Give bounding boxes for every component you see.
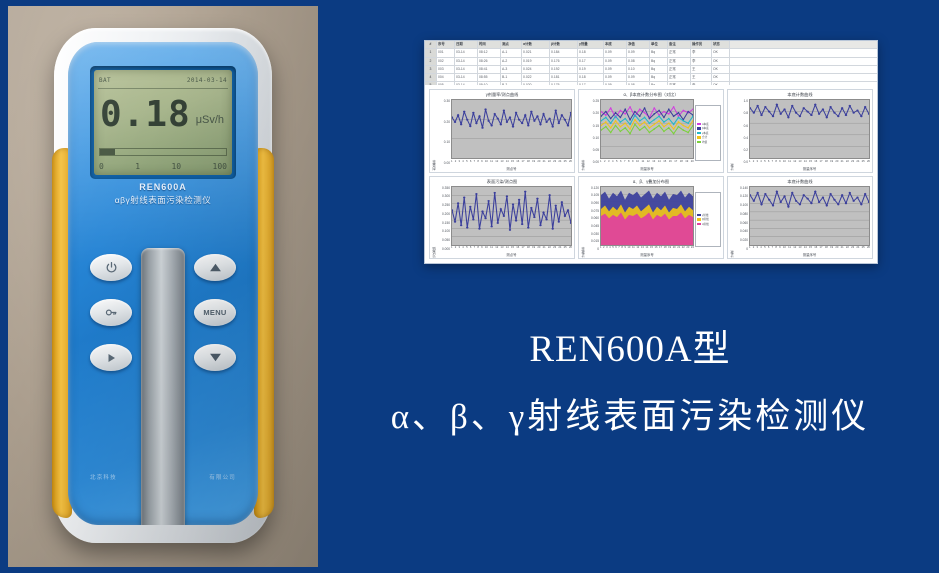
chart-title: α、β本底计数分布图（对比） bbox=[579, 90, 723, 99]
spreadsheet-header-row: #序号日期时间测点α计数β计数γ剂量本底净值单位备注操作员状态 bbox=[425, 41, 877, 49]
table-cell: 0.024 bbox=[522, 66, 550, 73]
table-cell: 0.17 bbox=[578, 58, 604, 65]
y-tick-label: 0.0 bbox=[744, 160, 748, 164]
table-cell: 4 bbox=[425, 74, 437, 81]
y-tick-label: 0.140 bbox=[740, 186, 748, 190]
chart-y-axis-label: 计数率 bbox=[580, 99, 586, 171]
device-model-plate: REN600A αβγ射线表面污染检测仪 bbox=[68, 182, 258, 206]
chart-card: α、β本底计数分布图（对比）计数率0.250.200.150.100.050.0… bbox=[578, 89, 724, 173]
y-tick-label: 0.05 bbox=[593, 148, 599, 152]
y-tick-label: 0.050 bbox=[442, 238, 450, 242]
table-cell: 08:12 bbox=[478, 49, 501, 56]
legend-label: β本底 bbox=[702, 126, 709, 130]
device-faceplate: BAT 2014-03-14 0.18 μSv/h 0110100 bbox=[68, 42, 258, 525]
table-cell: 08:41 bbox=[478, 66, 501, 73]
headline-description: α、β、γ射线表面污染检测仪 bbox=[330, 388, 930, 439]
lcd-value: 0.18 bbox=[100, 97, 191, 133]
y-tick-label: 0.040 bbox=[740, 229, 748, 233]
table-cell: B-1 bbox=[501, 74, 522, 81]
chart-y-ticks: 0.1400.1200.1000.0800.0600.0400.0200 bbox=[735, 186, 749, 258]
y-tick-label: 0.080 bbox=[740, 212, 748, 216]
legend-label: α射线 bbox=[702, 222, 709, 226]
lcd-battery-indicator: BAT bbox=[99, 77, 111, 84]
y-tick-label: 0.10 bbox=[444, 140, 450, 144]
lcd-scale-tick: 100 bbox=[213, 162, 227, 171]
chart-plot-area bbox=[749, 99, 870, 159]
column-header: 操作员 bbox=[691, 41, 712, 48]
table-cell: 0.09 bbox=[604, 49, 627, 56]
chart-plot-wrapper: 1234567891011121314151617181920212223242… bbox=[749, 99, 870, 171]
table-cell: OK bbox=[712, 58, 730, 65]
y-tick-label: 0.6 bbox=[744, 124, 748, 128]
legend-swatch bbox=[697, 141, 701, 144]
table-cell: 09:10 bbox=[478, 82, 501, 85]
legend-item: α射线 bbox=[697, 222, 719, 226]
table-cell: 0.021 bbox=[522, 49, 550, 56]
legend-swatch bbox=[697, 218, 701, 221]
chart-card: γ剂量率/测点曲线剂量率0.300.200.100.00123456789101… bbox=[429, 89, 575, 173]
chart-plot-wrapper: 1234567891011121314151617181920测量序号 bbox=[600, 99, 694, 171]
chart-y-ticks: 0.3500.3000.2500.2000.1500.1000.0500.000 bbox=[437, 186, 451, 258]
lcd-scale: 0110100 bbox=[99, 159, 227, 173]
legend-item: β射线 bbox=[697, 217, 719, 221]
legend-label: 均值 bbox=[702, 140, 707, 144]
y-tick-label: 0.030 bbox=[591, 232, 599, 236]
chart-body: 污染值0.3500.3000.2500.2000.1500.1000.0500.… bbox=[430, 186, 574, 259]
chart-legend: γ射线β射线α射线 bbox=[695, 192, 721, 248]
table-cell: 0.019 bbox=[522, 58, 550, 65]
y-tick-label: 0.075 bbox=[591, 209, 599, 213]
device-chinese-text: αβγ射线表面污染检测仪 bbox=[68, 194, 258, 206]
table-cell: 08:26 bbox=[478, 58, 501, 65]
chart-card: α、β、γ叠加分布图计数率0.1200.1050.0900.0750.0600.… bbox=[578, 176, 724, 260]
chart-plot-wrapper: 123456789101112131415161718192021222324测… bbox=[600, 186, 694, 258]
table-cell: 0.18 bbox=[578, 74, 604, 81]
table-cell: 001 bbox=[437, 49, 455, 56]
lcd-scale-tick: 0 bbox=[99, 162, 104, 171]
table-cell: OK bbox=[712, 82, 730, 85]
table-cell: 0.181 bbox=[550, 74, 578, 81]
chart-x-axis-label: 测量序号 bbox=[600, 166, 694, 171]
menu-label: MENU bbox=[203, 308, 226, 317]
legend-item: α本底 bbox=[697, 122, 719, 126]
play-button[interactable] bbox=[90, 344, 132, 371]
chart-title: 本底计数曲线 bbox=[728, 90, 872, 99]
chart-x-axis-label: 测点号 bbox=[451, 166, 572, 171]
y-tick-label: 1.0 bbox=[744, 99, 748, 103]
legend-swatch bbox=[697, 223, 701, 226]
lcd-date: 2014-03-14 bbox=[187, 77, 227, 84]
table-cell: 0.022 bbox=[522, 74, 550, 81]
y-tick-label: 0.000 bbox=[442, 247, 450, 251]
y-tick-label: 0.015 bbox=[591, 239, 599, 243]
key-button[interactable] bbox=[90, 299, 132, 326]
table-cell: 0.184 bbox=[550, 49, 578, 56]
device-model-text: REN600A bbox=[68, 182, 258, 192]
triangle-up-icon bbox=[209, 262, 222, 273]
chart-grid: γ剂量率/测点曲线剂量率0.300.200.100.00123456789101… bbox=[429, 89, 873, 259]
chart-y-axis-label: 计数 bbox=[729, 186, 735, 258]
table-cell: 03-14 bbox=[455, 66, 478, 73]
y-tick-label: 0.8 bbox=[744, 111, 748, 115]
table-cell: A-1 bbox=[501, 49, 522, 56]
power-button[interactable] bbox=[90, 254, 132, 281]
y-tick-label: 0.060 bbox=[591, 216, 599, 220]
legend-label: 合计 bbox=[702, 135, 707, 139]
chart-plot-area bbox=[749, 186, 870, 246]
up-button[interactable] bbox=[194, 254, 236, 281]
y-tick-label: 0.15 bbox=[593, 124, 599, 128]
legend-item: γ射线 bbox=[697, 213, 719, 217]
table-cell: A-2 bbox=[501, 58, 522, 65]
slide-canvas: BAT 2014-03-14 0.18 μSv/h 0110100 bbox=[0, 0, 939, 573]
table-cell: 李 bbox=[691, 58, 712, 65]
chart-title: 表面污染/测点图 bbox=[430, 177, 574, 186]
y-tick-label: 0.300 bbox=[442, 194, 450, 198]
table-cell: Bq bbox=[650, 74, 668, 81]
table-cell: 002 bbox=[437, 58, 455, 65]
chart-x-axis-label: 测点号 bbox=[451, 252, 572, 257]
table-cell: Bq bbox=[650, 82, 668, 85]
chart-y-ticks: 0.1200.1050.0900.0750.0600.0450.0300.015… bbox=[586, 186, 600, 258]
column-header: 备注 bbox=[668, 41, 691, 48]
table-cell: 0.10 bbox=[627, 66, 650, 73]
lcd-status-bar: BAT 2014-03-14 bbox=[99, 73, 227, 87]
menu-button[interactable]: MENU bbox=[194, 299, 236, 326]
table-cell: 2 bbox=[425, 58, 437, 65]
lcd-bargraph bbox=[99, 148, 227, 156]
y-tick-label: 0.20 bbox=[593, 111, 599, 115]
legend-item: 合计 bbox=[697, 135, 719, 139]
chart-body: 计数率0.1200.1050.0900.0750.0600.0450.0300.… bbox=[579, 186, 723, 259]
legend-label: β射线 bbox=[702, 217, 709, 221]
lcd-screen: BAT 2014-03-14 0.18 μSv/h 0110100 bbox=[94, 70, 232, 175]
legend-swatch bbox=[697, 136, 701, 139]
chart-legend: α本底β本底γ本底合计均值 bbox=[695, 105, 721, 161]
table-cell: 0.176 bbox=[550, 58, 578, 65]
y-tick-label: 0.045 bbox=[591, 224, 599, 228]
table-cell: OK bbox=[712, 74, 730, 81]
chart-y-ticks: 0.250.200.150.100.050.00 bbox=[586, 99, 600, 171]
chart-plot-wrapper: 1234567891011121314151617181920212223242… bbox=[451, 186, 572, 258]
power-icon bbox=[105, 261, 118, 274]
spreadsheet-table: #序号日期时间测点α计数β计数γ剂量本底净值单位备注操作员状态100103-14… bbox=[425, 41, 877, 85]
headline-model: REN600A型 bbox=[330, 318, 930, 372]
table-cell: 0.19 bbox=[578, 66, 604, 73]
lcd-divider bbox=[98, 88, 228, 89]
table-cell: 004 bbox=[437, 74, 455, 81]
table-cell: 03-14 bbox=[455, 74, 478, 81]
legend-label: γ本底 bbox=[702, 131, 708, 135]
lcd-reading: 0.18 μSv/h bbox=[100, 92, 226, 138]
y-tick-label: 0.150 bbox=[442, 221, 450, 225]
lcd-bezel: BAT 2014-03-14 0.18 μSv/h 0110100 bbox=[90, 66, 236, 179]
y-tick-label: 0.4 bbox=[744, 136, 748, 140]
lcd-scale-tick: 1 bbox=[135, 162, 140, 171]
table-row: 500503-1409:10B-20.0200.1750.170.090.08B… bbox=[425, 82, 877, 85]
device-handle-strip bbox=[141, 248, 185, 525]
column-header: α计数 bbox=[522, 41, 550, 48]
column-header: 测点 bbox=[501, 41, 522, 48]
chart-x-axis-label: 测量序号 bbox=[749, 166, 870, 171]
legend-swatch bbox=[697, 214, 701, 217]
table-cell: 0.020 bbox=[522, 82, 550, 85]
down-button[interactable] bbox=[194, 344, 236, 371]
legend-swatch bbox=[697, 127, 701, 130]
table-cell: 08:55 bbox=[478, 74, 501, 81]
table-cell: 0.192 bbox=[550, 66, 578, 73]
column-header: γ剂量 bbox=[578, 41, 604, 48]
y-tick-label: 0.090 bbox=[591, 201, 599, 205]
y-tick-label: 0.20 bbox=[444, 120, 450, 124]
legend-item: 均值 bbox=[697, 140, 719, 144]
y-tick-label: 0.2 bbox=[744, 148, 748, 152]
y-tick-label: 0.120 bbox=[591, 186, 599, 190]
chart-y-ticks: 0.300.200.100.00 bbox=[437, 99, 451, 171]
table-row: 100103-1408:12A-10.0210.1840.180.090.09B… bbox=[425, 49, 877, 57]
table-cell: 0.17 bbox=[578, 82, 604, 85]
chart-plot-area bbox=[600, 186, 694, 246]
table-cell: 王 bbox=[691, 66, 712, 73]
lcd-scale-tick: 10 bbox=[171, 162, 181, 171]
chart-y-ticks: 1.00.80.60.40.20.0 bbox=[735, 99, 749, 171]
chart-y-axis-label: 剂量率 bbox=[431, 99, 437, 171]
y-tick-label: 0.100 bbox=[442, 229, 450, 233]
table-cell: 5 bbox=[425, 82, 437, 85]
legend-label: γ射线 bbox=[702, 213, 708, 217]
column-header: 序号 bbox=[437, 41, 455, 48]
chart-y-axis-label: 污染值 bbox=[431, 186, 437, 258]
column-header: 净值 bbox=[627, 41, 650, 48]
chart-plot-area bbox=[600, 99, 694, 159]
y-tick-label: 0 bbox=[746, 247, 748, 251]
chart-card: 表面污染/测点图污染值0.3500.3000.2500.2000.1500.10… bbox=[429, 176, 575, 260]
chart-title: γ剂量率/测点曲线 bbox=[430, 90, 574, 99]
table-cell: 正常 bbox=[668, 82, 691, 85]
faceplate-footer-left: 北京科技 bbox=[90, 473, 117, 481]
chart-body: 剂量率0.300.200.100.00123456789101112131415… bbox=[430, 99, 574, 172]
table-cell: Bq bbox=[650, 66, 668, 73]
lcd-unit: μSv/h bbox=[196, 114, 224, 126]
column-header: β计数 bbox=[550, 41, 578, 48]
y-tick-label: 0.100 bbox=[740, 203, 748, 207]
legend-item: γ本底 bbox=[697, 131, 719, 135]
table-cell: 0.09 bbox=[604, 58, 627, 65]
table-cell: 3 bbox=[425, 66, 437, 73]
table-cell: 0.09 bbox=[627, 49, 650, 56]
chart-body: 计数0.1400.1200.1000.0800.0600.0400.020012… bbox=[728, 186, 872, 259]
table-cell: 0.18 bbox=[578, 49, 604, 56]
table-cell: OK bbox=[712, 49, 730, 56]
table-cell: 0.09 bbox=[627, 74, 650, 81]
y-tick-label: 0.30 bbox=[444, 99, 450, 103]
y-tick-label: 0.10 bbox=[593, 136, 599, 140]
y-tick-label: 0.250 bbox=[442, 203, 450, 207]
key-icon bbox=[104, 306, 118, 319]
table-cell: 正常 bbox=[668, 58, 691, 65]
table-cell: 0.08 bbox=[627, 82, 650, 85]
table-cell: B-2 bbox=[501, 82, 522, 85]
table-cell: 03-14 bbox=[455, 58, 478, 65]
chart-x-axis-label: 测量序号 bbox=[749, 252, 870, 257]
y-tick-label: 0.105 bbox=[591, 193, 599, 197]
y-tick-label: 0.020 bbox=[740, 238, 748, 242]
chart-plot-area bbox=[451, 186, 572, 246]
y-tick-label: 0.00 bbox=[593, 160, 599, 164]
table-cell: 正常 bbox=[668, 74, 691, 81]
table-cell: OK bbox=[712, 66, 730, 73]
y-tick-label: 0 bbox=[597, 247, 599, 251]
chart-y-axis-label: 计数 bbox=[729, 99, 735, 171]
table-cell: 0.09 bbox=[604, 82, 627, 85]
y-tick-label: 0.25 bbox=[593, 99, 599, 103]
chart-plot-area bbox=[451, 99, 572, 159]
table-cell: 张 bbox=[691, 82, 712, 85]
chart-plot-wrapper: 1234567891011121314151617181920212223242… bbox=[451, 99, 572, 171]
play-icon bbox=[105, 352, 117, 364]
chart-title: 本底计数曲线 bbox=[728, 177, 872, 186]
table-cell: 0.175 bbox=[550, 82, 578, 85]
table-cell: A-3 bbox=[501, 66, 522, 73]
y-tick-label: 0.350 bbox=[442, 186, 450, 190]
device-body: BAT 2014-03-14 0.18 μSv/h 0110100 bbox=[54, 28, 272, 543]
table-cell: 005 bbox=[437, 82, 455, 85]
chart-x-axis-label: 测量序号 bbox=[600, 252, 694, 257]
product-photo: BAT 2014-03-14 0.18 μSv/h 0110100 bbox=[8, 6, 318, 567]
table-cell: 003 bbox=[437, 66, 455, 73]
legend-label: α本底 bbox=[702, 122, 709, 126]
table-cell: 1 bbox=[425, 49, 437, 56]
table-row: 300303-1408:41A-30.0240.1920.190.090.10B… bbox=[425, 66, 877, 74]
table-cell: 正常 bbox=[668, 66, 691, 73]
table-cell: Bq bbox=[650, 49, 668, 56]
table-cell: 李 bbox=[691, 49, 712, 56]
column-header: # bbox=[425, 41, 437, 48]
chart-card: 本底计数曲线计数0.1400.1200.1000.0800.0600.0400.… bbox=[727, 176, 873, 260]
chart-body: 计数1.00.80.60.40.20.012345678910111213141… bbox=[728, 99, 872, 172]
table-cell: 正常 bbox=[668, 49, 691, 56]
column-header: 本底 bbox=[604, 41, 627, 48]
table-row: 200203-1408:26A-20.0190.1760.170.090.08B… bbox=[425, 58, 877, 66]
faceplate-footer-right: 有限公司 bbox=[209, 473, 236, 481]
table-cell: 0.09 bbox=[604, 74, 627, 81]
table-cell: Bq bbox=[650, 58, 668, 65]
chart-y-axis-label: 计数率 bbox=[580, 186, 586, 258]
column-header: 时间 bbox=[478, 41, 501, 48]
chart-title: α、β、γ叠加分布图 bbox=[579, 177, 723, 186]
triangle-down-icon bbox=[209, 352, 222, 363]
column-header: 状态 bbox=[712, 41, 730, 48]
column-header: 日期 bbox=[455, 41, 478, 48]
chart-body: 计数率0.250.200.150.100.050.001234567891011… bbox=[579, 99, 723, 172]
y-tick-label: 0.060 bbox=[740, 221, 748, 225]
table-cell: 0.08 bbox=[627, 58, 650, 65]
table-row: 400403-1408:55B-10.0220.1810.180.090.09B… bbox=[425, 74, 877, 82]
table-cell: 03-14 bbox=[455, 49, 478, 56]
headline-block: REN600A型 α、β、γ射线表面污染检测仪 bbox=[330, 318, 930, 439]
y-tick-label: 0.00 bbox=[444, 161, 450, 165]
table-cell: 03-14 bbox=[455, 82, 478, 85]
table-cell: 0.09 bbox=[604, 66, 627, 73]
column-header: 单位 bbox=[650, 41, 668, 48]
chart-plot-wrapper: 1234567891011121314151617181920212223242… bbox=[749, 186, 870, 258]
chart-card: 本底计数曲线计数1.00.80.60.40.20.012345678910111… bbox=[727, 89, 873, 173]
legend-swatch bbox=[697, 123, 701, 126]
table-cell: 王 bbox=[691, 74, 712, 81]
legend-swatch bbox=[697, 132, 701, 135]
y-tick-label: 0.120 bbox=[740, 194, 748, 198]
legend-item: β本底 bbox=[697, 126, 719, 130]
y-tick-label: 0.200 bbox=[442, 212, 450, 216]
software-screenshot: #序号日期时间测点α计数β计数γ剂量本底净值单位备注操作员状态100103-14… bbox=[424, 40, 878, 264]
